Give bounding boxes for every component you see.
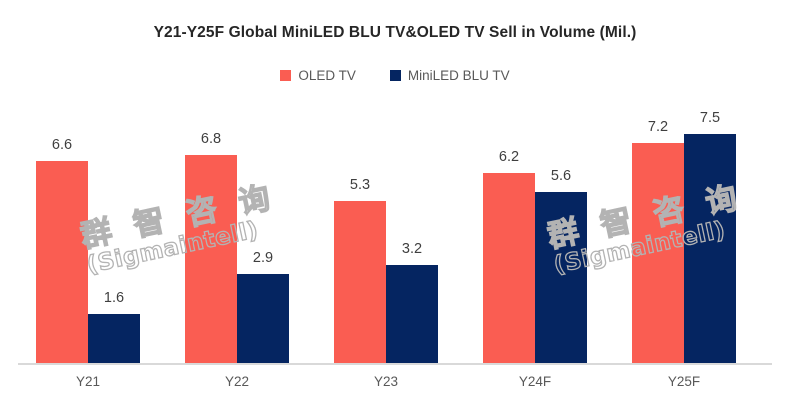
x-axis-label-y25f: Y25F: [618, 374, 750, 389]
bar-y22-miniled-blu-tv[interactable]: [237, 274, 289, 363]
x-axis-label-y22: Y22: [171, 374, 303, 389]
bar-value-label-y21-miniled: 1.6: [74, 290, 154, 306]
bar-y21-miniled-blu-tv[interactable]: [88, 314, 140, 363]
bar-value-label-y22-miniled: 2.9: [223, 250, 303, 266]
x-axis-label-y24f: Y24F: [469, 374, 601, 389]
chart-container: Y21-Y25F Global MiniLED BLU TV&OLED TV S…: [0, 0, 790, 417]
watermark-cn-text: 群 智 咨 询: [78, 181, 279, 254]
bar-y25f-oled-tv[interactable]: [632, 143, 684, 363]
bar-value-label-y24f-miniled: 5.6: [521, 168, 601, 184]
x-axis-label-y23: Y23: [320, 374, 452, 389]
bar-y23-miniled-blu-tv[interactable]: [386, 265, 438, 363]
bar-y24f-miniled-blu-tv[interactable]: [535, 192, 587, 363]
plot-area: 6.61.66.82.95.33.26.25.67.27.5 Y21Y22Y23…: [0, 0, 790, 417]
bar-y25f-miniled-blu-tv[interactable]: [684, 134, 736, 364]
bar-value-label-y25f-miniled: 7.5: [670, 110, 750, 126]
bar-y23-oled-tv[interactable]: [334, 201, 386, 363]
bar-value-label-y22-oled: 6.8: [171, 131, 251, 147]
x-axis-line: [18, 363, 772, 365]
x-axis-label-y21: Y21: [22, 374, 154, 389]
bar-y24f-oled-tv[interactable]: [483, 173, 535, 363]
bar-value-label-y23-oled: 5.3: [320, 177, 400, 193]
bar-y21-oled-tv[interactable]: [36, 161, 88, 363]
bar-value-label-y23-miniled: 3.2: [372, 241, 452, 257]
bar-value-label-y21-oled: 6.6: [22, 137, 102, 153]
bar-value-label-y24f-oled: 6.2: [469, 149, 549, 165]
